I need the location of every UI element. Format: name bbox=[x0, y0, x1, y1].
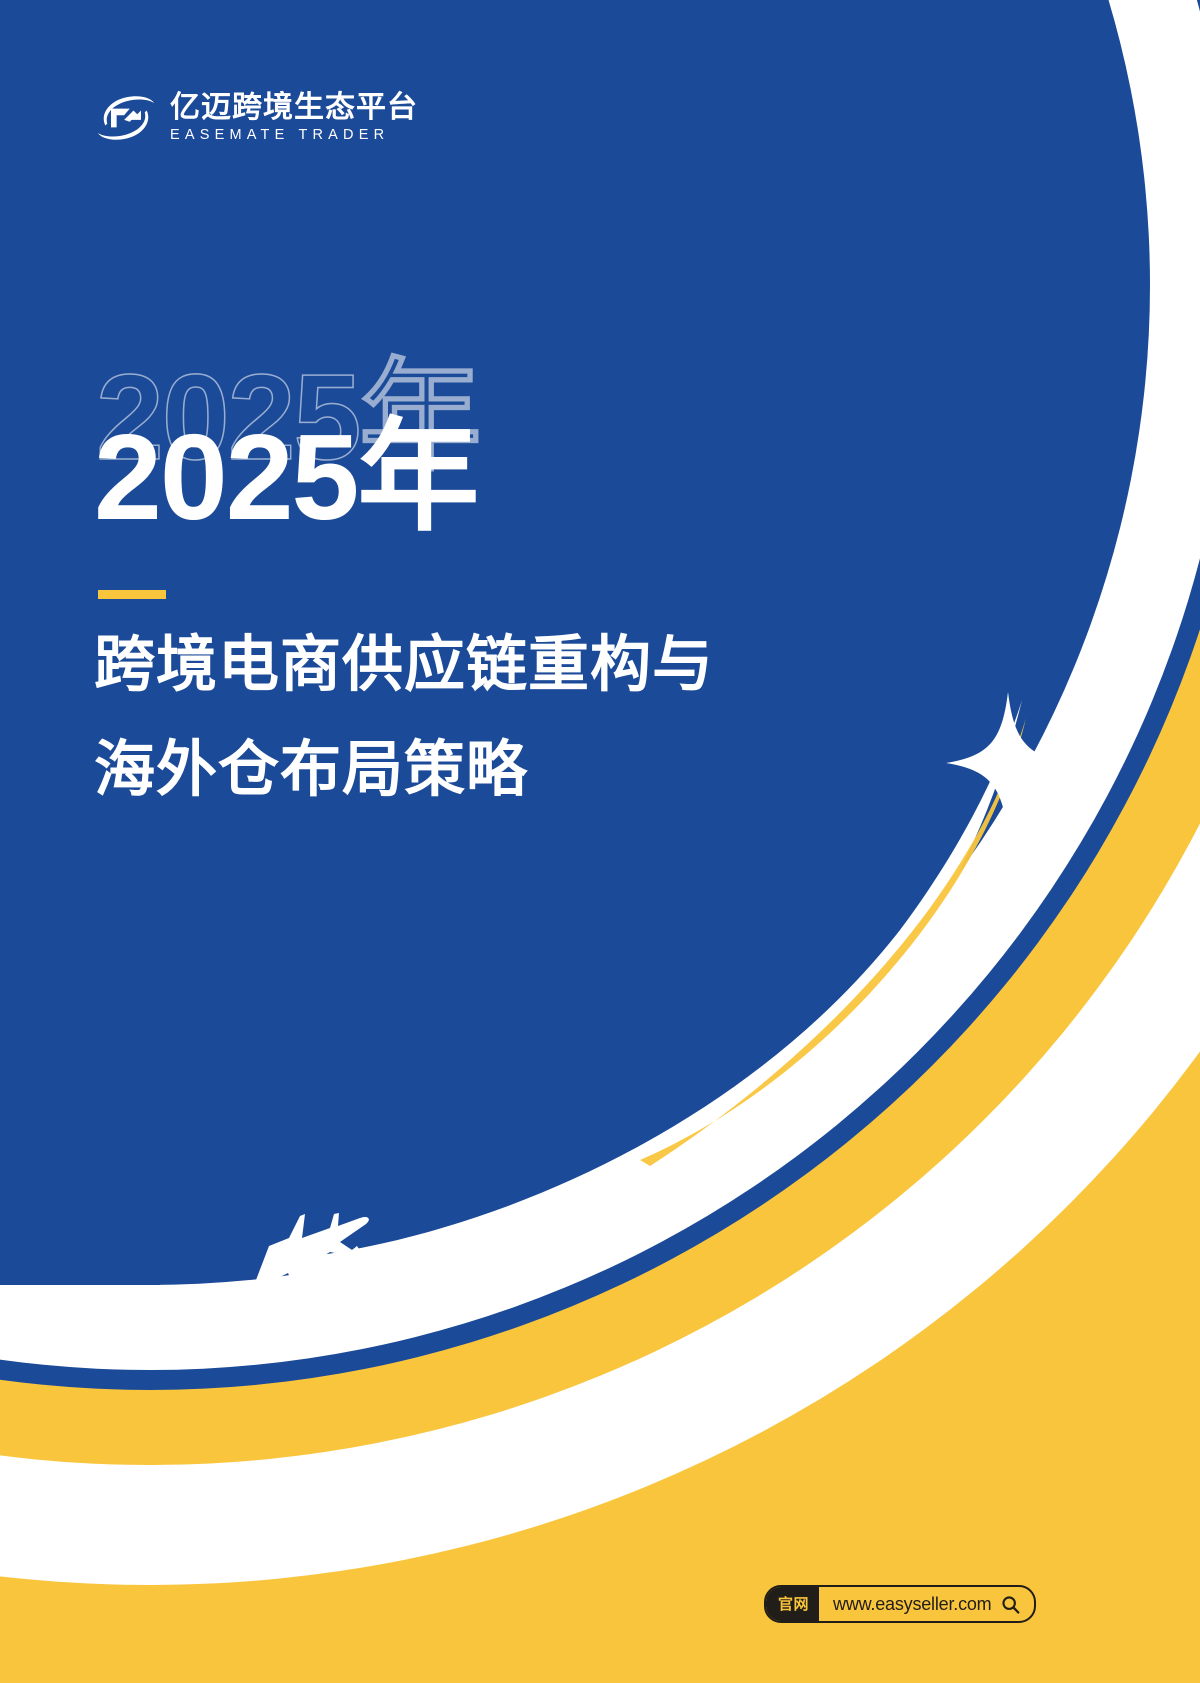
search-icon[interactable] bbox=[999, 1587, 1034, 1621]
logo-name-cn: 亿迈跨境生态平台 bbox=[170, 93, 418, 123]
badge-official-tag: 官网 bbox=[766, 1587, 819, 1621]
yellow-divider-rule bbox=[98, 590, 166, 599]
brand-logo: 亿迈跨境生态平台 EASEMATE TRADER bbox=[96, 88, 418, 148]
website-url: www.easyseller.com bbox=[819, 1587, 999, 1621]
easemate-swoosh-logo-icon bbox=[96, 88, 156, 148]
cover-poster: 亿迈跨境生态平台 EASEMATE TRADER 2025年 2025年 跨境电… bbox=[0, 0, 1200, 1683]
logo-name-en: EASEMATE TRADER bbox=[170, 128, 418, 143]
blue-top-fill bbox=[0, 0, 700, 300]
background-artwork bbox=[0, 0, 1200, 1683]
title-line-1: 跨境电商供应链重构与 bbox=[94, 612, 714, 717]
website-badge[interactable]: 官网 www.easyseller.com bbox=[764, 1585, 1036, 1623]
page-title: 跨境电商供应链重构与 海外仓布局策略 bbox=[94, 612, 714, 822]
year-headline: 2025年 bbox=[94, 416, 477, 538]
title-line-2: 海外仓布局策略 bbox=[94, 717, 714, 822]
logo-text: 亿迈跨境生态平台 EASEMATE TRADER bbox=[170, 93, 418, 143]
